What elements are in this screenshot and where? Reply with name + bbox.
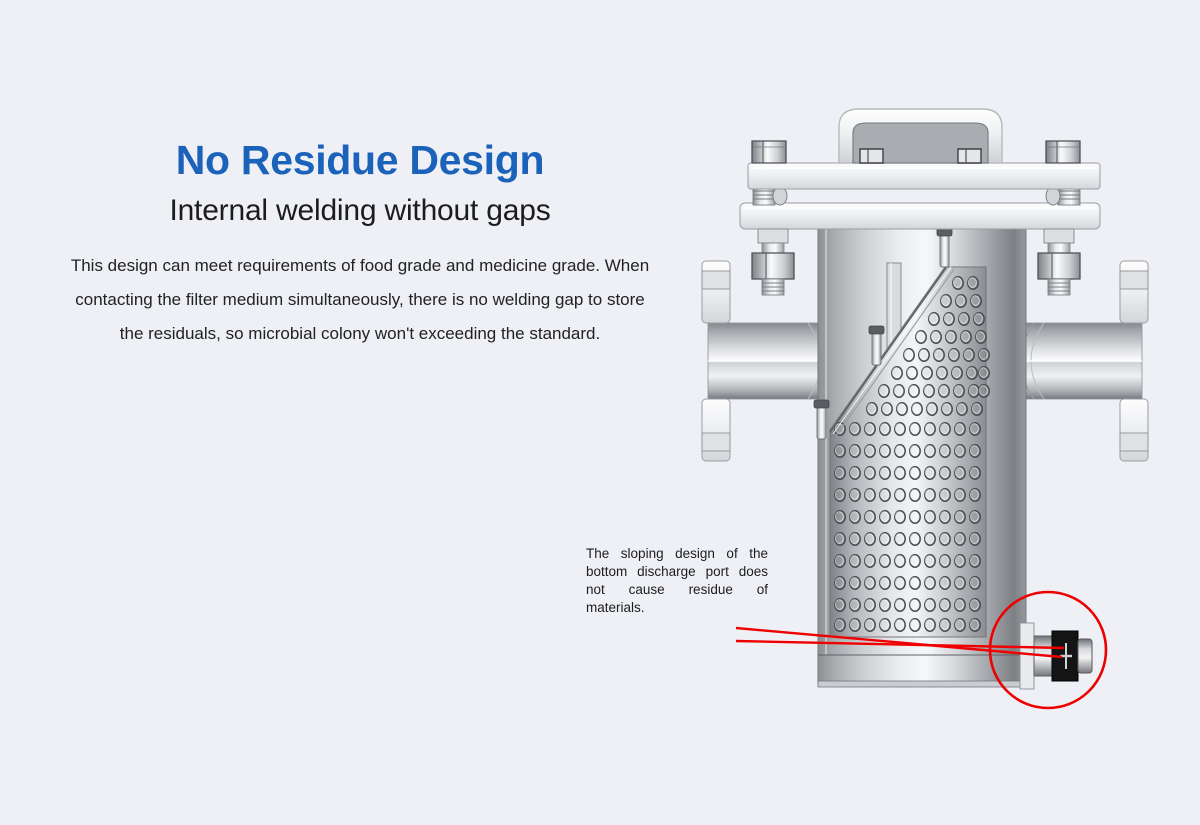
hex-nut [752, 141, 786, 163]
hex-nut [958, 149, 981, 163]
outlet-pipe [1010, 323, 1142, 399]
body-paragraph: This design can meet requirements of foo… [60, 249, 660, 351]
top-flange-plate [748, 163, 1100, 189]
discharge-port-valve [1020, 623, 1092, 689]
callout-annotation: The sloping design of the bottom dischar… [586, 545, 768, 617]
lower-bolt-assembly [752, 229, 794, 295]
threaded-stud [1046, 187, 1080, 205]
hex-nut [860, 149, 883, 163]
technical-illustration [690, 95, 1160, 720]
page-title: No Residue Design [60, 140, 660, 181]
threaded-stud [753, 187, 787, 205]
page-subtitle: Internal welding without gaps [60, 195, 660, 227]
clamp-plate [740, 203, 1100, 229]
hex-nut [1046, 141, 1080, 163]
text-panel: No Residue Design Internal welding witho… [60, 140, 660, 351]
callout-text: The sloping design of the bottom dischar… [586, 545, 768, 617]
lower-bolt-assembly [1038, 229, 1080, 295]
strainer-drawing [690, 95, 1160, 720]
lid-handle [839, 109, 1002, 163]
